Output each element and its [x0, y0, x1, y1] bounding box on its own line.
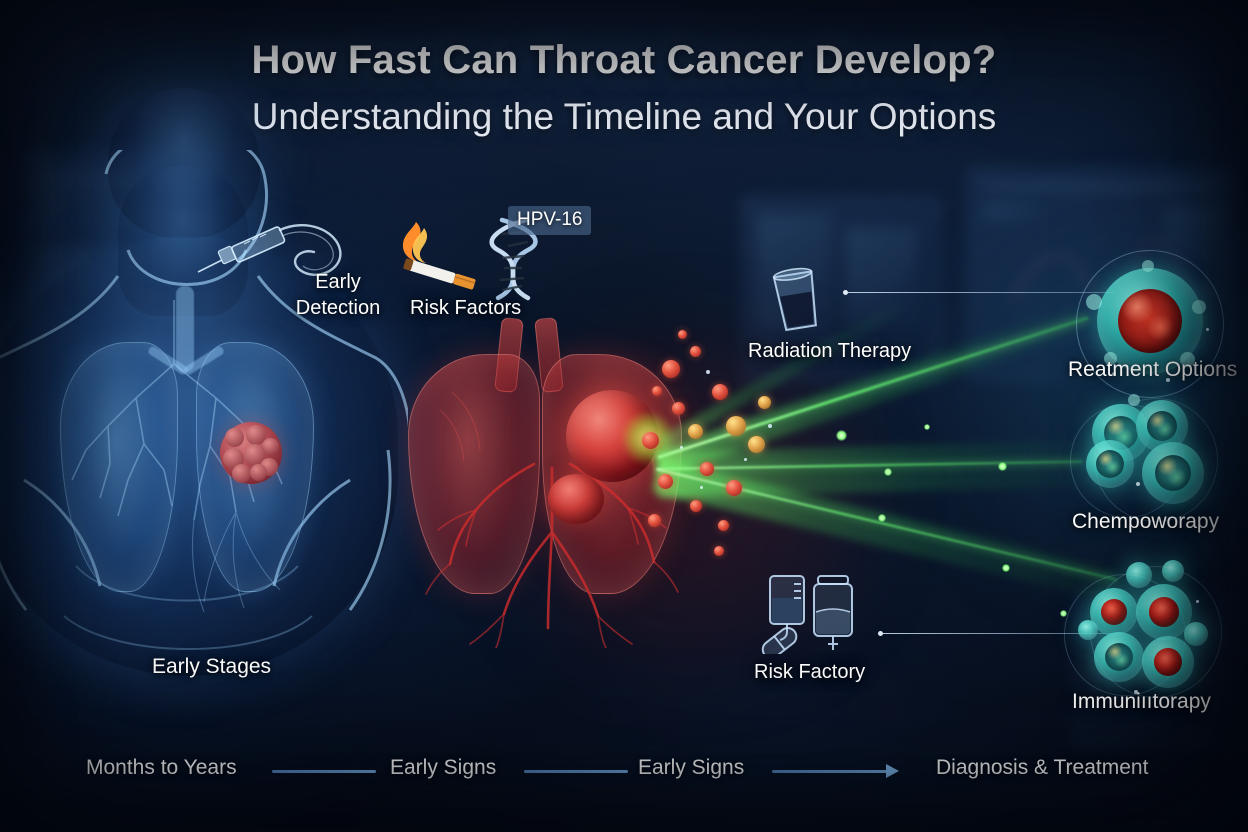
dispersing-cell	[658, 474, 673, 489]
particle-dust	[1206, 328, 1209, 331]
xray-tumor-mass	[220, 422, 282, 484]
treatment-timeline: Months to Years Early Signs Early Signs …	[0, 756, 1248, 790]
dispersing-cell	[690, 346, 701, 357]
immune-cell-small	[1078, 620, 1098, 640]
dispersing-cell	[648, 514, 661, 527]
dispersing-cell	[726, 480, 742, 496]
radiation-therapy-label: Radiation Therapy	[748, 340, 911, 363]
timeline-connector-2	[524, 770, 628, 773]
immune-cell-nucleus	[1154, 648, 1182, 676]
dispersing-cell	[688, 424, 703, 439]
beam-spark-5	[1002, 564, 1010, 572]
particle-dust	[706, 370, 710, 374]
dispersing-cell	[748, 436, 765, 453]
particle-dust	[700, 486, 703, 489]
timeline-step-4: Diagnosis & Treatment	[936, 756, 1148, 780]
cell-receptor	[1142, 260, 1154, 272]
dispersing-cell	[690, 500, 702, 512]
dispersing-cell	[672, 402, 685, 415]
timeline-step-1: Months to Years	[86, 756, 237, 780]
beam-spark-3	[998, 462, 1007, 471]
immune-cell-small	[1184, 622, 1208, 646]
chemo-cell-nucleus	[1147, 411, 1177, 441]
secondary-tumor-nodule	[548, 474, 604, 524]
beam-spark-1	[836, 430, 847, 441]
dispersing-cell	[758, 396, 771, 409]
dispersing-cell	[700, 462, 714, 476]
early-stages-label: Early Stages	[152, 655, 271, 679]
immune-cell-nucleus	[1101, 599, 1127, 625]
immunotherapy-label: Immuniııtorapy	[1072, 690, 1211, 714]
dispersing-cell	[662, 360, 680, 378]
beam-spark-2	[884, 468, 892, 476]
dispersing-cell	[718, 520, 729, 531]
particle-dust	[1196, 600, 1199, 603]
page-title: How Fast Can Throat Cancer Develop?	[0, 38, 1248, 83]
particle-dust	[768, 424, 772, 428]
cigarette-flame-icon	[398, 220, 490, 292]
radiation-beaker-icon	[766, 264, 828, 340]
timeline-arrow-head	[886, 764, 899, 778]
timeline-step-2: Early Signs	[390, 756, 496, 780]
immune-cell-small	[1162, 560, 1184, 582]
dispersing-cell	[712, 384, 728, 400]
particle-dust	[1136, 482, 1140, 486]
dispersing-cell	[652, 386, 662, 396]
early-detection-label: Early Detection	[290, 270, 386, 321]
risk-factors-label: Risk Factors	[410, 297, 521, 320]
particle-dust	[680, 446, 683, 449]
immune-cell-nucleus	[1149, 597, 1179, 627]
early-detection-line2: Detection	[296, 297, 381, 319]
chemo-cell-nucleus	[1096, 450, 1124, 478]
timeline-step-3: Early Signs	[638, 756, 744, 780]
timeline-connector-3	[772, 770, 888, 773]
chemotherapy-label: Chempoworapy	[1072, 510, 1219, 534]
treatment-options-label: Reatment Options	[1068, 358, 1237, 382]
cell-receptor	[1192, 300, 1206, 314]
dispersing-cell	[678, 330, 687, 339]
cell-receptor	[1128, 394, 1140, 406]
cell-receptor	[1086, 294, 1102, 310]
timeline-connector-1	[272, 770, 376, 773]
dispersing-cell	[642, 432, 659, 449]
iv-bag-icon	[758, 572, 878, 654]
annotation-line-radiation	[847, 292, 1115, 293]
immune-cell-nucleus	[1105, 643, 1133, 671]
infographic-canvas: How Fast Can Throat Cancer Develop? Unde…	[0, 0, 1248, 832]
beam-spark-4	[878, 514, 886, 522]
immune-cell-small	[1126, 562, 1152, 588]
dispersing-cell	[714, 546, 724, 556]
tumor-cell-nucleus	[1118, 289, 1182, 353]
dispersing-cell	[726, 416, 746, 436]
red-lungs-illustration	[392, 318, 732, 648]
risk-factory-label: Risk Factory	[754, 661, 865, 684]
particle-dust	[744, 458, 747, 461]
beam-spark-7	[924, 424, 930, 430]
early-detection-line1: Early	[315, 271, 361, 293]
hpv-16-badge: HPV-16	[508, 206, 591, 235]
chemo-cell-nucleus	[1155, 455, 1191, 491]
